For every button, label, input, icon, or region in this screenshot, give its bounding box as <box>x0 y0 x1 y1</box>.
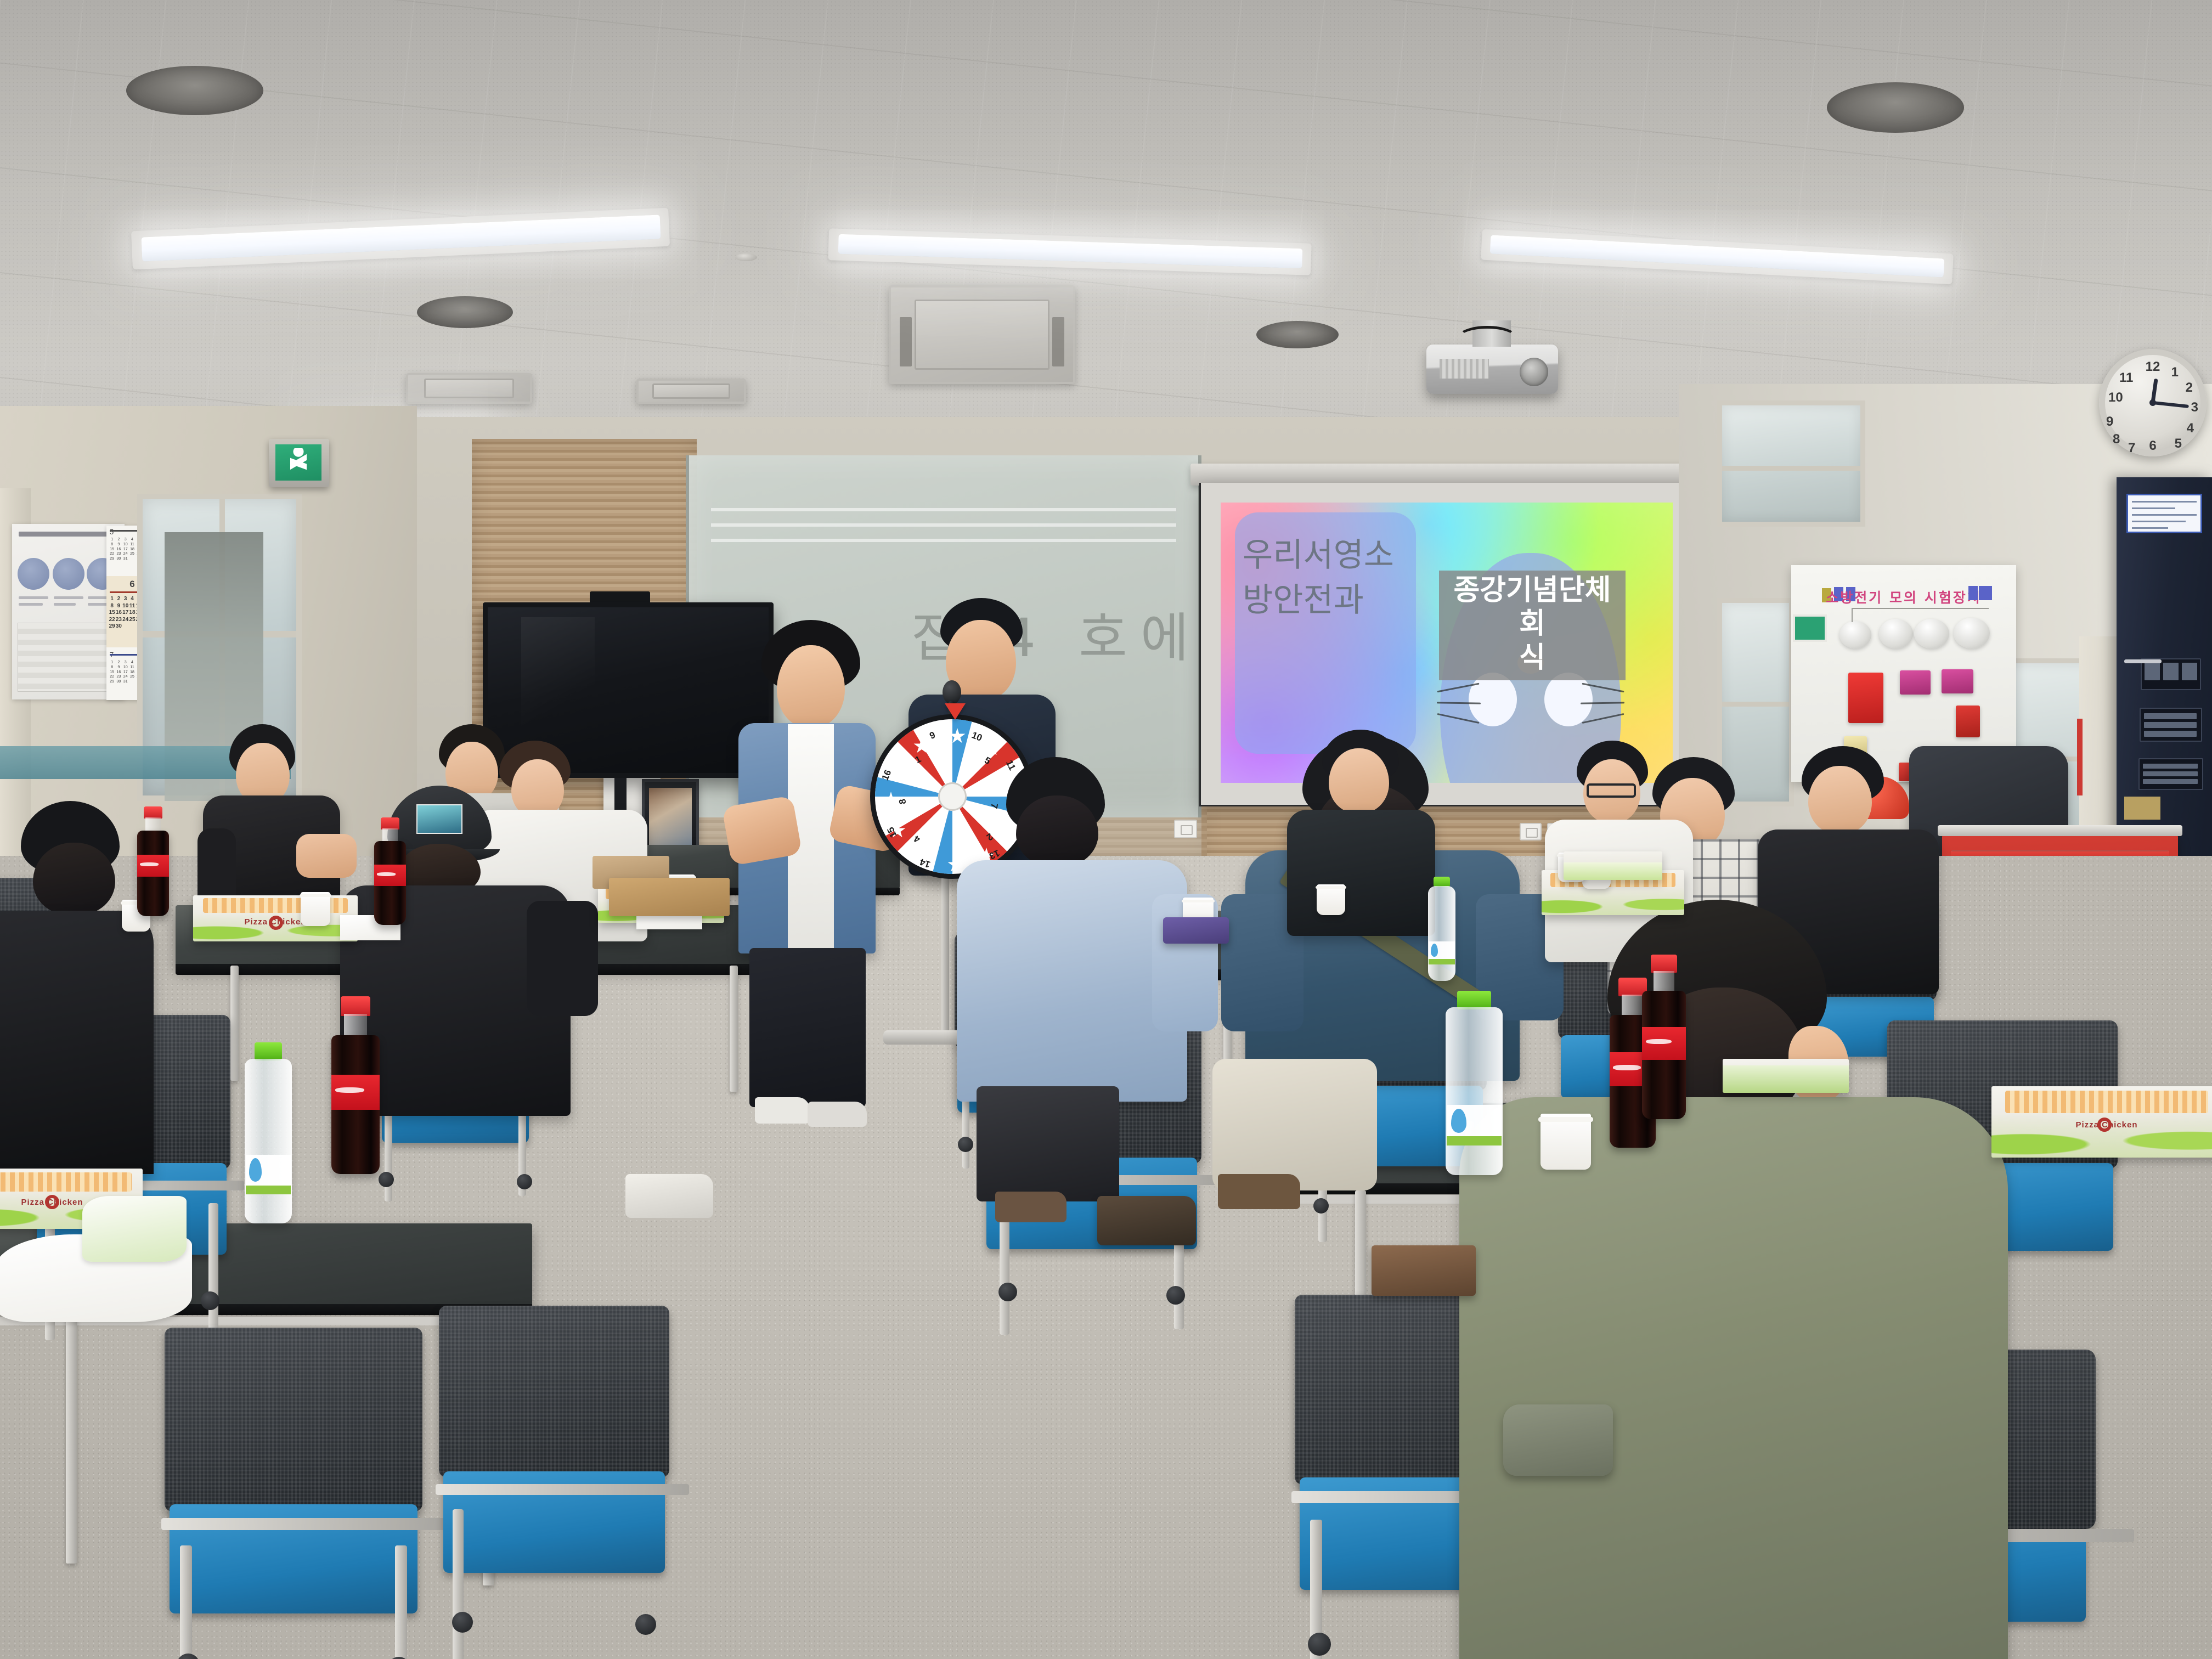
cabinet-inspection-document <box>2126 494 2202 533</box>
table-leg <box>230 966 239 1081</box>
cat-mouth-right <box>1544 673 1593 726</box>
clock-numeral-8: 8 <box>2113 432 2120 447</box>
head-back <box>1016 795 1098 867</box>
pizza-box-right-far <box>1564 851 1662 880</box>
air-vent-ceiling-3 <box>636 379 746 404</box>
head <box>1808 766 1872 834</box>
shoe <box>1218 1174 1300 1209</box>
slide-label-line1: 종강기념단체회 <box>1441 574 1623 641</box>
glass-frost-stripe-3 <box>711 539 1176 542</box>
leather-wallet <box>1372 1245 1476 1296</box>
head-back <box>33 843 115 915</box>
cabinet-name-plate <box>2124 797 2160 820</box>
shoe <box>995 1192 1066 1222</box>
bag-on-floor <box>1503 1404 1613 1476</box>
pizza-box-left-mid: Pizza Chicken <box>193 895 358 941</box>
trousers <box>749 948 866 1107</box>
notebook-dark-left <box>1163 917 1229 944</box>
clock-numeral-10: 10 <box>2108 390 2123 405</box>
wall-outlet-1[interactable] <box>1174 820 1197 838</box>
clock-numeral-9: 9 <box>2106 414 2113 430</box>
paper-cup <box>301 892 330 926</box>
bell-panel-4 <box>1954 618 1990 648</box>
cola-bottle-right-front <box>1640 955 1688 1119</box>
breaker-group-2[interactable] <box>2140 708 2202 742</box>
chair-left-front-3[interactable] <box>439 1306 669 1624</box>
ceiling-projector <box>1426 345 1558 394</box>
recessed-light-4 <box>1256 321 1339 348</box>
projector-lens-icon <box>1520 358 1548 386</box>
wall-clock: 12 11 10 9 8 7 6 5 4 3 2 1 <box>2099 349 2207 456</box>
clock-numeral-12: 12 <box>2146 359 2160 375</box>
water-drop-icon <box>1451 1109 1466 1133</box>
screen-glare <box>521 617 594 736</box>
torso <box>0 911 154 1174</box>
shoe-left <box>755 1097 810 1124</box>
frame-photo <box>649 788 692 851</box>
glass-frost-stripe-2 <box>711 523 1176 527</box>
right-window-upper <box>1717 400 1865 527</box>
classroom-photo-scene: 집 4 호에 B 우리서영소 방안전과 종강기념단체회 <box>0 0 2212 1659</box>
clock-numeral-6: 6 <box>2149 438 2156 454</box>
napkin-green-edge <box>82 1196 187 1262</box>
slide-speech-bubble: 우리서영소 방안전과 <box>1235 512 1416 754</box>
pizza-box-right-front-2 <box>1723 1059 1849 1093</box>
recessed-light-2 <box>1827 82 1964 133</box>
wheel-number: 7 <box>988 803 1000 810</box>
clock-numeral-5: 5 <box>2175 436 2182 452</box>
arm-left <box>722 795 803 866</box>
exit-sign-right <box>1793 614 1827 642</box>
prize-wheel-pointer <box>945 703 966 720</box>
clock-numeral-2: 2 <box>2186 380 2193 396</box>
slide-bubble-text-line2: 방안전과 <box>1243 580 1412 620</box>
projector-cable <box>1457 326 1517 350</box>
clock-numeral-3: 3 <box>2191 400 2198 415</box>
torso <box>1287 810 1435 936</box>
heat-detector-panel-2 <box>1879 619 1913 648</box>
pizza-box-right-front: Pizza Chicken <box>1991 1086 2212 1158</box>
running-person-exit-icon <box>290 448 307 477</box>
wall-outlet-2[interactable] <box>1520 823 1542 840</box>
clock-center-pin <box>2149 399 2156 406</box>
air-vent-ceiling-1 <box>889 285 1075 384</box>
tool-cart-top <box>1938 825 2182 836</box>
head <box>511 759 564 817</box>
recessed-light-1 <box>126 66 263 115</box>
table-leg <box>66 1311 77 1564</box>
cardboard-box-2 <box>609 878 730 916</box>
cap-logo-patch <box>416 804 462 834</box>
clock-numeral-7: 7 <box>2128 441 2135 456</box>
fire-alarm-box-red <box>1848 673 1883 723</box>
wheel-hub <box>938 782 967 811</box>
head <box>777 645 845 727</box>
shorts <box>1212 1059 1377 1190</box>
cola-bottle-left-mid-2 <box>373 817 407 925</box>
cola-bottle-left-front <box>329 996 382 1174</box>
slide-title-label: 종강기념단체회 식 <box>1439 571 1626 680</box>
air-vent-ceiling-2 <box>406 373 532 404</box>
prize-wheel-stand <box>941 874 949 1039</box>
water-bottle-center-foreground <box>1442 991 1506 1175</box>
red-wall-strip <box>2077 719 2083 795</box>
arm-right <box>296 834 357 878</box>
hose-box-red <box>1956 706 1980 737</box>
glasses-icon <box>1587 783 1636 798</box>
valve-box-1 <box>1900 670 1931 695</box>
paper-cup-right-front <box>1541 1114 1591 1170</box>
cola-bottle-left-mid <box>136 806 170 916</box>
projector-vent <box>1440 359 1489 379</box>
clock-numeral-1: 1 <box>2171 365 2179 380</box>
paper-cup <box>1317 884 1345 915</box>
smoke-detector-icon <box>735 253 757 261</box>
cat-mouth-left <box>1469 673 1517 726</box>
slide-bubble-text-line1: 우리서영소 <box>1243 535 1412 575</box>
pizza-brand-ring-icon <box>45 1195 59 1209</box>
smoke-detector-panel-1 <box>1839 621 1871 648</box>
recessed-light-3 <box>417 296 513 328</box>
water-bottle-left-front <box>241 1042 295 1223</box>
shoe-right <box>808 1102 867 1127</box>
shoes-on-floor <box>1097 1196 1196 1245</box>
exit-sign <box>269 439 329 487</box>
projector-screen-housing <box>1190 464 1701 486</box>
glass-frost-stripe-1 <box>711 508 1176 511</box>
clock-numeral-4: 4 <box>2187 421 2194 436</box>
table-leg <box>730 966 738 1092</box>
heat-detector-panel-3 <box>1914 619 1949 648</box>
cabinet-door-handle[interactable] <box>2124 659 2162 663</box>
valve-box-2 <box>1942 669 1973 693</box>
clock-minute-hand <box>2153 401 2189 408</box>
head <box>1329 748 1389 813</box>
exit-sign-face <box>275 444 321 481</box>
breaker-group-3[interactable] <box>2138 758 2203 790</box>
trousers <box>977 1086 1119 1201</box>
chair-left-front-2[interactable] <box>165 1328 422 1659</box>
pizza-brand-ring-icon <box>269 916 283 930</box>
water-bottle-right-mid <box>1426 877 1457 981</box>
sneaker-on-floor <box>625 1174 713 1218</box>
slide-label-line2: 식 <box>1441 641 1623 675</box>
torso-olive-shirt <box>1459 1097 2008 1659</box>
arm-right <box>527 901 598 1016</box>
clock-numeral-11: 11 <box>2119 370 2133 386</box>
